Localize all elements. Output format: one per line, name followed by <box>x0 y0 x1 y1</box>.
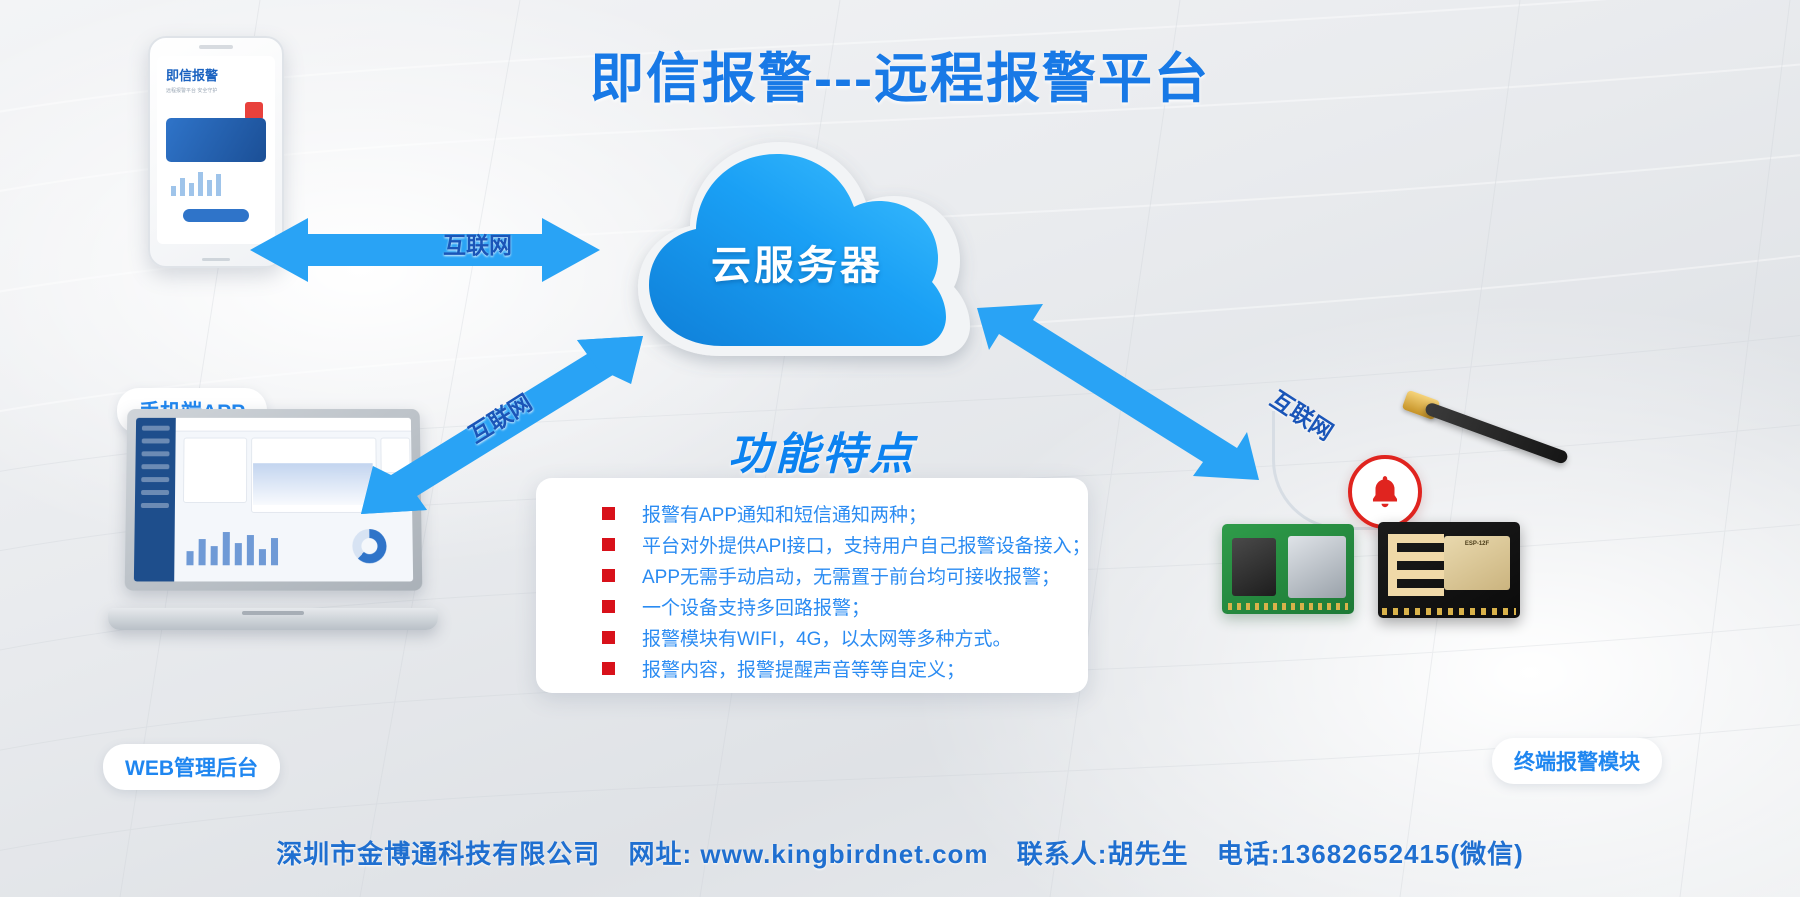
phone-hero-card <box>166 118 266 162</box>
laptop-base <box>108 608 438 630</box>
pcb-antenna <box>1388 534 1444 596</box>
bell-icon <box>1366 473 1404 511</box>
label-terminal-module: 终端报警模块 <box>1492 738 1662 784</box>
feature-item: 报警内容，报警提醒声音等等自定义； <box>536 653 1088 684</box>
laptop-screen <box>134 418 413 582</box>
footer-website[interactable]: 网址: www.kingbirdnet.com <box>629 839 989 869</box>
bullet-square-icon <box>602 662 615 675</box>
phone-device: 即信报警 远程报警平台 安全守护 <box>148 36 284 268</box>
phone-notch <box>199 45 233 49</box>
gsm-module-board <box>1222 524 1354 614</box>
sim-card-slot <box>1288 536 1346 598</box>
dashboard-area-chart <box>253 463 373 505</box>
laptop-device <box>108 408 438 638</box>
bullet-square-icon <box>602 569 615 582</box>
phone-screen: 即信报警 远程报警平台 安全守护 <box>157 56 275 244</box>
antenna-assembly <box>1390 365 1590 495</box>
feature-item: 一个设备支持多回路报警； <box>536 591 1088 622</box>
feature-text: 报警内容，报警提醒声音等等自定义； <box>642 655 965 682</box>
arrow-module-cloud <box>975 290 1295 480</box>
bullet-square-icon <box>602 631 615 644</box>
feature-item: 报警有APP通知和短信通知两种； <box>536 498 1088 529</box>
feature-text: 报警模块有WIFI，4G，以太网等多种方式。 <box>642 624 1011 651</box>
phone-app-subtitle: 远程报警平台 安全守护 <box>166 87 275 95</box>
esp-module-board: ESP-12F <box>1378 522 1520 618</box>
footer-phone: 电话:13682652415(微信) <box>1217 839 1524 869</box>
feature-text: 一个设备支持多回路报警； <box>642 593 870 620</box>
dashboard-bar-chart <box>186 525 278 565</box>
arrow-phone-cloud <box>250 210 600 290</box>
feature-text: 平台对外提供API接口，支持用户自己报警设备接入； <box>642 531 1091 558</box>
antenna-rod <box>1424 401 1569 465</box>
feature-text: APP无需手动启动，无需置于前台均可接收报警； <box>642 562 1060 589</box>
footer-contact-bar: 深圳市金博通科技有限公司 网址: www.kingbirdnet.com 联系人… <box>0 834 1800 871</box>
features-panel: 报警有APP通知和短信通知两种； 平台对外提供API接口，支持用户自己报警设备接… <box>536 478 1088 693</box>
cloud-server-node: 云服务器 <box>612 128 982 378</box>
footer-contact-person: 联系人:胡先生 <box>1017 839 1189 869</box>
feature-item: 平台对外提供API接口，支持用户自己报警设备接入； <box>536 529 1088 560</box>
feature-text: 报警有APP通知和短信通知两种； <box>642 500 927 527</box>
gsm-pin-header <box>1228 603 1348 610</box>
feature-item: APP无需手动启动，无需置于前台均可接收报警； <box>536 560 1088 591</box>
bullet-square-icon <box>602 538 615 551</box>
gsm-chip <box>1232 538 1276 596</box>
laptop-lid <box>125 409 423 591</box>
alarm-bell-badge <box>1348 455 1422 529</box>
footer-company: 深圳市金博通科技有限公司 <box>276 839 600 869</box>
dashboard-topbar <box>176 418 411 432</box>
label-internet-top: 互联网 <box>443 226 512 260</box>
label-internet-left: 互联网 <box>461 384 538 449</box>
dashboard-sidebar <box>134 418 176 582</box>
dashboard-card <box>183 438 247 503</box>
phone-app-title: 即信报警 <box>166 65 275 84</box>
label-web-admin: WEB管理后台 <box>103 744 280 790</box>
cloud-label: 云服务器 <box>612 233 982 291</box>
bullet-square-icon <box>602 507 615 520</box>
poster-canvas: 即信报警---远程报警平台 即信报警 远程报警平台 安全守护 手机端APP <box>0 0 1800 897</box>
features-heading: 功能特点 <box>672 418 972 482</box>
phone-cta-button[interactable] <box>183 209 249 222</box>
feature-item: 报警模块有WIFI，4G，以太网等多种方式。 <box>536 622 1088 653</box>
esp-shield-label: ESP-12F <box>1446 540 1508 548</box>
esp-pin-header <box>1382 608 1516 615</box>
bullet-square-icon <box>602 600 615 613</box>
dashboard-card <box>380 438 410 474</box>
phone-mini-chart <box>171 168 221 196</box>
phone-home-indicator <box>202 258 230 261</box>
dashboard-donut-chart <box>352 529 386 563</box>
